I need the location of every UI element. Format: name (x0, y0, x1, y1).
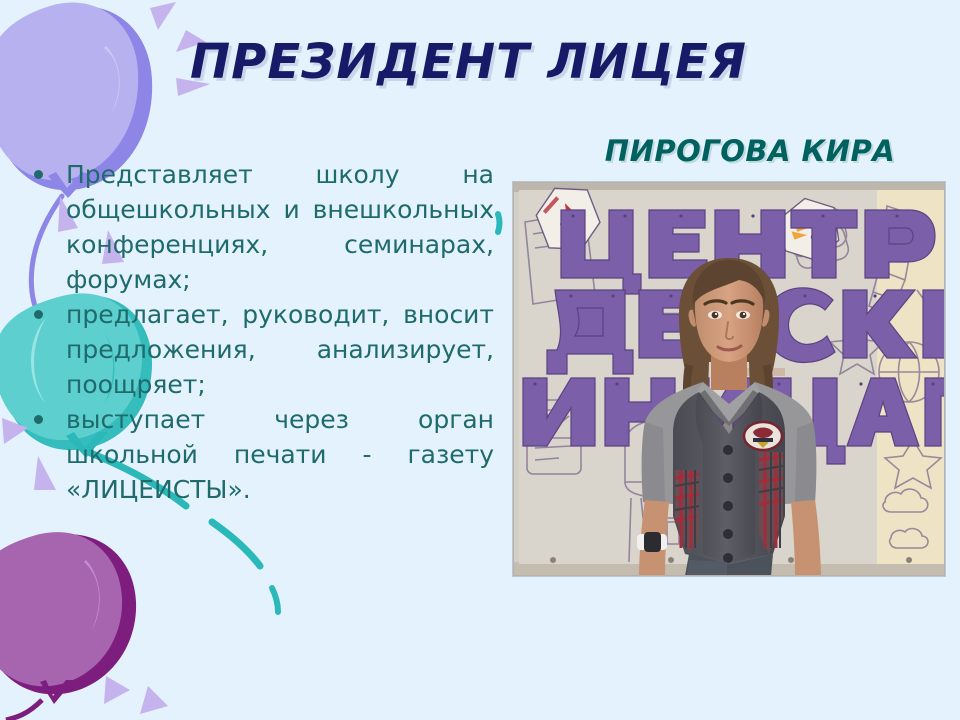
list-item-text: выступает через орган школьной печати - … (66, 405, 494, 504)
page-title: ПРЕЗИДЕНТ ЛИЦЕЯ (190, 34, 790, 90)
vest-plaid-right (759, 452, 783, 554)
bullet-list: Представляет школу на общешкольных и вне… (24, 157, 494, 507)
teal-arc-right (498, 214, 500, 232)
bullet-dot-icon (34, 415, 43, 424)
photo-of-student (513, 182, 945, 576)
list-item: выступает через орган школьной печати - … (24, 402, 494, 507)
bullet-dot-icon (34, 170, 43, 179)
slide: ПРЕЗИДЕНТ ЛИЦЕЯ ПИРОГОВА КИРА Представля… (0, 0, 960, 720)
purple-balloon-icon (0, 532, 136, 720)
right-arm (791, 500, 821, 576)
list-item: предлагает, руководит, вносит предложени… (24, 297, 494, 402)
wristwatch (637, 532, 667, 552)
list-item-text: Представляет школу на общешкольных и вне… (66, 160, 494, 294)
school-emblem-patch (744, 422, 782, 450)
bullet-dot-icon (34, 310, 43, 319)
list-item-text: предлагает, руководит, вносит предложени… (66, 300, 494, 399)
student-name-subtitle: ПИРОГОВА КИРА (560, 134, 940, 168)
teal-string-lower (228, 608, 280, 668)
list-item: Представляет школу на общешкольных и вне… (24, 157, 494, 297)
confetti-bottom-left (104, 648, 168, 714)
